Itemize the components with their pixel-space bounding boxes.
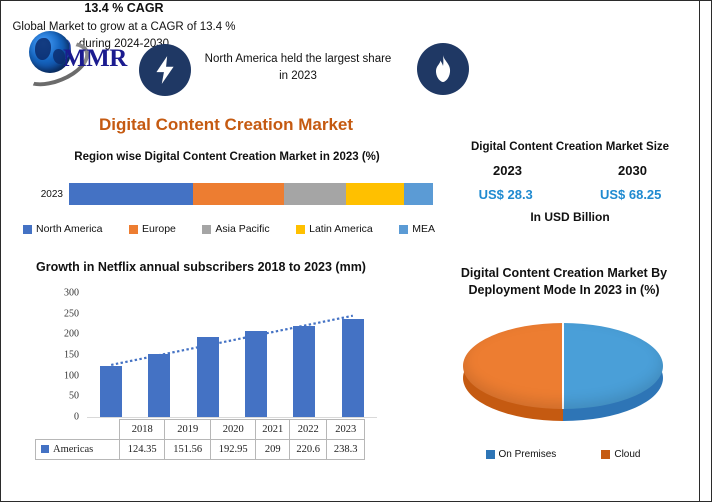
netflix-y-axis: 050100150200250300	[37, 293, 79, 417]
table-header-cell: 2018	[120, 420, 165, 440]
region-category-label: 2023	[23, 189, 69, 200]
market-size-unit: In USD Billion	[445, 210, 695, 224]
table-header-cell: 2019	[165, 420, 210, 440]
flame-icon	[417, 43, 469, 95]
pie-3d-top	[463, 323, 663, 409]
market-size-value-right: US$ 68.25	[600, 187, 661, 202]
legend-item-north-america: North America	[23, 223, 103, 235]
bar-column-2020	[184, 293, 232, 417]
pie-chart-legend: On PremisesCloud	[463, 449, 663, 460]
y-tick-label: 200	[64, 329, 79, 340]
pie-legend-item-cloud: Cloud	[601, 449, 640, 460]
table-value-cell: 192.95	[210, 440, 255, 460]
logo-text: MMR	[63, 45, 127, 73]
netflix-chart-title: Growth in Netflix annual subscribers 201…	[21, 259, 381, 276]
table-header-cell: 2020	[210, 420, 255, 440]
bar-column-2022	[280, 293, 328, 417]
region-segment-asia-pacific	[284, 183, 346, 205]
pie-legend-swatch-icon	[601, 450, 610, 459]
table-header-row: 201820192020202120222023	[36, 420, 365, 440]
table-series-label: Americas	[36, 440, 120, 460]
bar-column-2023	[329, 293, 377, 417]
legend-swatch-icon	[23, 225, 32, 234]
bar-2021	[245, 331, 267, 417]
region-segment-europe	[193, 183, 284, 205]
market-size-value-left: US$ 28.3	[479, 187, 533, 202]
pie-legend-swatch-icon	[486, 450, 495, 459]
pie-chart-title: Digital Content Creation Market By Deplo…	[433, 265, 695, 299]
legend-label: MEA	[412, 223, 435, 235]
bar-column-2021	[232, 293, 280, 417]
market-size-years: 2023 2030	[445, 163, 695, 178]
bar-2022	[293, 326, 315, 417]
legend-item-mea: MEA	[399, 223, 435, 235]
legend-item-latin-america: Latin America	[296, 223, 373, 235]
legend-label: North America	[36, 223, 103, 235]
bar-2020	[197, 337, 219, 417]
bar-2018	[100, 366, 122, 417]
region-segment-latin-america	[346, 183, 404, 205]
table-header-cell: 2023	[327, 420, 365, 440]
market-size-title: Digital Content Creation Market Size	[445, 141, 695, 153]
bar-column-2018	[87, 293, 135, 417]
region-segment-north-america	[69, 183, 193, 205]
pie-legend-item-on-premises: On Premises	[486, 449, 557, 460]
legend-swatch-icon	[296, 225, 305, 234]
legend-item-europe: Europe	[129, 223, 176, 235]
region-stacked-bar	[69, 183, 433, 205]
legend-label: Europe	[142, 223, 176, 235]
region-chart-title: Region wise Digital Content Creation Mar…	[27, 149, 427, 165]
table-value-cell: 238.3	[327, 440, 365, 460]
legend-label: Latin America	[309, 223, 373, 235]
y-tick-label: 100	[64, 370, 79, 381]
table-value-cell: 124.35	[120, 440, 165, 460]
legend-item-asia-pacific: Asia Pacific	[202, 223, 269, 235]
vertical-divider	[699, 1, 700, 501]
table-swatch-icon	[41, 445, 49, 453]
table-corner-cell	[36, 420, 120, 440]
table-header-cell: 2022	[289, 420, 327, 440]
bar-2023	[342, 319, 364, 417]
table-value-cell: 220.6	[289, 440, 327, 460]
netflix-data-table: 201820192020202120222023Americas124.3515…	[35, 419, 365, 460]
market-size-values: US$ 28.3 US$ 68.25	[445, 187, 695, 202]
table-value-cell: 209	[256, 440, 290, 460]
y-tick-label: 250	[64, 308, 79, 319]
region-segment-mea	[404, 183, 433, 205]
bar-2019	[148, 354, 170, 417]
legend-label: Asia Pacific	[215, 223, 269, 235]
y-tick-label: 150	[64, 350, 79, 361]
netflix-bars	[87, 293, 377, 417]
lightning-bolt-icon	[139, 44, 191, 96]
legend-swatch-icon	[399, 225, 408, 234]
north-america-note: North America held the largest share in …	[203, 51, 393, 84]
netflix-table-body: 201820192020202120222023Americas124.3515…	[36, 420, 365, 460]
pie-legend-label: Cloud	[614, 449, 640, 460]
netflix-chart-plot: 050100150200250300	[37, 293, 381, 421]
market-size-panel: Digital Content Creation Market Size 202…	[445, 141, 695, 224]
market-size-year-right: 2030	[618, 163, 647, 178]
netflix-plot-area	[87, 293, 377, 418]
bar-column-2019	[135, 293, 183, 417]
table-header-cell: 2021	[256, 420, 290, 440]
infographic-page: ) MMR North America held the largest sha…	[0, 0, 712, 502]
deployment-pie-chart	[463, 317, 669, 435]
mmr-logo: ) MMR	[19, 29, 137, 85]
legend-swatch-icon	[202, 225, 211, 234]
region-chart-row: 2023	[23, 183, 433, 205]
table-row: Americas124.35151.56192.95209220.6238.3	[36, 440, 365, 460]
y-tick-label: 300	[64, 288, 79, 299]
legend-swatch-icon	[129, 225, 138, 234]
pie-legend-label: On Premises	[499, 449, 557, 460]
region-chart-legend: North AmericaEuropeAsia PacificLatin Ame…	[23, 223, 435, 235]
market-size-year-left: 2023	[493, 163, 522, 178]
cagr-headline: 13.4 % CAGR	[1, 1, 247, 15]
page-title: Digital Content Creation Market	[1, 115, 451, 135]
y-tick-label: 50	[69, 391, 79, 402]
table-value-cell: 151.56	[165, 440, 210, 460]
